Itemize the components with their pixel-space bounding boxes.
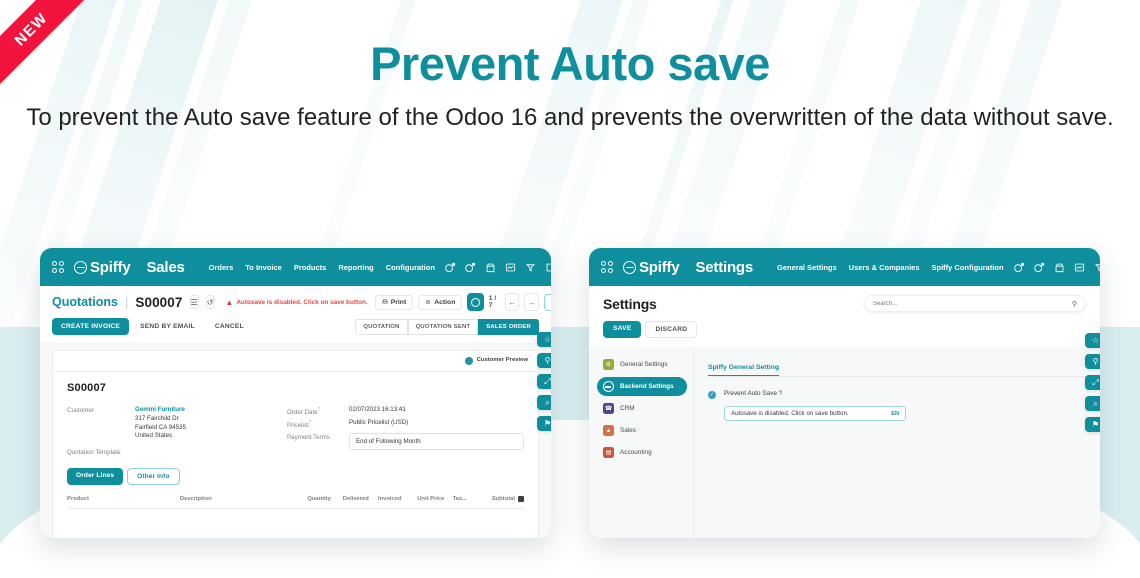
shop-icon[interactable] [1054,262,1065,273]
poster-canvas: NEW Prevent Auto save To prevent the Aut… [0,0,1140,578]
column-tax: Tax... [453,496,492,502]
sidebar-label-sales: Sales [620,427,636,434]
star-icon[interactable]: ☆ [537,332,551,347]
sidebar-item-general-settings[interactable]: ⚙ General Settings [597,355,687,374]
section-divider [708,376,1086,377]
language-badge[interactable]: EN [891,411,899,417]
save-manual-icon[interactable]: ☰ [190,295,199,309]
customer-address-line-3: United States [135,432,172,439]
breadcrumb-separator: | [125,295,128,310]
spiffy-mark-icon [623,261,636,274]
search-icon[interactable]: ⚲ [537,353,551,368]
app-name-label: Settings [695,259,753,276]
menu-item-spiffy-configuration[interactable]: Spiffy Configuration [932,263,1004,272]
prevent-auto-save-setting: ✓ Prevent Auto Save ? [708,390,1086,399]
customer-label: Customer [67,406,135,441]
payment-terms-label: Payment Terms [287,433,349,450]
customer-value: Gemini Furniture 317 Fairchild Dr Fairfi… [135,406,186,441]
breadcrumb-root[interactable]: Quotations [52,295,118,309]
expand-icon[interactable]: ⤢ [537,374,551,389]
expand-icon[interactable]: ⤢ [1085,375,1100,390]
settings-screenshot: Spiffy Settings General Settings Users &… [589,248,1100,538]
menu-item-to-invoice[interactable]: To Invoice [245,263,282,272]
status-quotation[interactable]: QUOTATION [355,319,407,335]
search-icon[interactable]: ⚲ [1085,354,1100,369]
pager-next-button[interactable]: → [524,293,539,311]
crm-icon: ☎ [603,403,614,414]
autosave-warning-text: Autosave is disabled. Click on save butt… [236,299,367,306]
autosave-warning: ▲ Autosave is disabled. Click on save bu… [225,298,367,307]
settings-page-title: Settings [603,296,657,312]
megaphone-icon[interactable] [1094,262,1100,273]
cancel-button[interactable]: CANCEL [206,318,253,335]
left-navbar: Spiffy Sales Orders To Invoice Products … [40,248,551,286]
menu-item-orders[interactable]: Orders [209,263,234,272]
order-lines-header: Product Description Quantity Delivered I… [67,496,524,509]
customer-address-line-1: 317 Fairchild Dr [135,415,179,422]
menu-item-reporting[interactable]: Reporting [338,263,373,272]
accounting-icon: ▤ [603,447,614,458]
save-button[interactable]: SAVE [603,321,641,338]
settings-body: ⚙ General Settings Backend Settings ☎ CR… [589,347,1100,538]
customer-link[interactable]: Gemini Furniture [135,406,185,413]
payment-terms-field: Payment Terms End of Following Month [287,433,524,450]
form-column-left: Customer Gemini Furniture 317 Fairchild … [67,406,287,456]
star-icon[interactable]: ☆ [1085,333,1100,348]
sales-icon: ▲ [603,425,614,436]
column-invoiced: Invoiced [378,496,417,502]
left-navbar-icons [445,259,551,276]
column-delivered: Delivered [343,496,378,502]
printer-icon [382,299,388,305]
column-options-icon[interactable] [518,496,524,502]
status-sales-order[interactable]: SALES ORDER [478,319,539,335]
sidebar-item-crm[interactable]: ☎ CRM [597,399,687,418]
customer-address-line-2: Fairfield CA 94535 [135,424,186,431]
spiffy-backend-icon [603,381,614,392]
breadcrumb-record: S00007 [135,295,182,310]
order-date-label: Order Date? [287,406,349,416]
sheet-body: S00007 Customer Gemini Furniture 317 Fai… [53,372,538,509]
zoom-icon[interactable]: ⌕ [537,395,551,410]
customer-preview-button[interactable]: Customer Preview [465,357,528,365]
presentation-icon[interactable] [505,262,516,273]
column-subtotal: Subtotal [492,496,515,502]
status-quotation-sent[interactable]: QUOTATION SENT [408,319,479,335]
sidebar-label-general-settings: General Settings [620,361,668,368]
brand-logo[interactable]: Spiffy [74,259,130,276]
form-fields: Customer Gemini Furniture 317 Fairchild … [67,406,524,456]
presentation-icon[interactable] [1074,262,1085,273]
payment-terms-input[interactable]: End of Following Month [349,433,524,450]
record-title: S00007 [67,382,524,394]
globe-icon [465,357,473,365]
record-buttons-row: CREATE INVOICE SEND BY EMAIL CANCEL QUOT… [52,318,539,342]
discard-button[interactable]: DISCARD [645,321,697,338]
settings-header-row: Settings ⚲ [603,295,1086,312]
pager-label: 1 / 7 [489,295,500,309]
print-label: Print [391,299,406,306]
settings-actions: SAVE DISCARD [603,321,1086,347]
activity-clock-icon[interactable] [445,262,456,273]
create-button[interactable]: Create [544,294,551,311]
column-description: Description [180,496,308,502]
app-name-label: Sales [146,259,184,276]
required-marker-icon: ? [309,420,312,426]
apps-grid-icon[interactable] [601,261,613,273]
left-menu-bar: Orders To Invoice Products Reporting Con… [209,263,435,272]
sidebar-item-backend-settings[interactable]: Backend Settings [597,377,687,396]
spiffy-mark-icon [74,261,87,274]
action-label: Action [434,299,455,306]
settings-main-panel: Spiffy General Setting ✓ Prevent Auto Sa… [694,347,1100,538]
required-marker-icon: ? [318,407,321,413]
control-panel-actions: Print Action 1 / 7 ← → Create [375,293,551,311]
messages-icon[interactable] [465,262,476,273]
messages-icon[interactable] [1034,262,1045,273]
status-bar: QUOTATION QUOTATION SENT SALES ORDER [355,319,539,335]
search-input[interactable] [873,301,1072,307]
right-navbar-icons [1014,259,1100,276]
checkbox-checked-icon[interactable]: ✓ [708,391,716,399]
megaphone-icon[interactable] [525,262,536,273]
circle-toggle-icon[interactable] [467,293,483,311]
send-by-email-button[interactable]: SEND BY EMAIL [131,318,204,335]
breadcrumb-row: Quotations | S00007 ☰ ↺ ▲ Autosave is di… [52,293,539,311]
activity-clock-icon[interactable] [1014,262,1025,273]
warning-triangle-icon: ▲ [225,298,233,307]
settings-section-tab-row: Spiffy General Setting [708,356,1086,376]
menu-item-users-companies[interactable]: Users & Companies [849,263,920,272]
prevent-auto-save-label: Prevent Auto Save ? [724,390,782,397]
hero-section: Prevent Auto save To prevent the Auto sa… [0,38,1140,132]
quotation-form-sheet: Customer Preview S00007 Customer Gemini … [52,350,539,538]
tab-spiffy-general-setting[interactable]: Spiffy General Setting [708,364,779,376]
pricelist-field: Pricelist? Public Pricelist (USD) [287,419,524,429]
page-title: Prevent Auto save [0,38,1140,90]
pricelist-label: Pricelist? [287,419,349,429]
brand-logo[interactable]: Spiffy [623,259,679,276]
right-side-toolbar: ☆ ⚲ ⤢ ⌕ ⚑ [1085,333,1100,432]
pricelist-value: Public Pricelist (USD) [349,419,408,429]
column-product: Product [67,496,180,502]
gear-icon [425,299,431,305]
sidebar-item-accounting[interactable]: ▤ Accounting [597,443,687,462]
sidebar-item-sales[interactable]: ▲ Sales [597,421,687,440]
sidebar-label-backend-settings: Backend Settings [620,383,674,390]
settings-header: Settings ⚲ SAVE DISCARD [589,286,1100,347]
menu-item-configuration[interactable]: Configuration [386,263,435,272]
print-button[interactable]: Print [375,295,413,310]
right-navbar: Spiffy Settings General Settings Users &… [589,248,1100,286]
bookmark-icon[interactable]: ⚑ [1085,417,1100,432]
note-icon[interactable] [545,262,551,273]
brand-label: Spiffy [639,259,679,276]
order-date-value: 02/07/2023 16:13:41 [349,406,406,416]
sheet-topbar: Customer Preview [53,351,538,372]
column-unit-price: Unit Price [417,496,452,502]
order-date-field: Order Date? 02/07/2023 16:13:41 [287,406,524,416]
zoom-icon[interactable]: ⌕ [1085,396,1100,411]
tab-other-info[interactable]: Other Info [127,468,180,485]
create-invoice-button[interactable]: CREATE INVOICE [52,318,129,335]
left-side-toolbar: ☆ ⚲ ⤢ ⌕ ⚑ [537,332,551,431]
menu-item-general-settings[interactable]: General Settings [777,263,837,272]
page-subtitle: To prevent the Auto save feature of the … [0,104,1140,132]
column-quantity: Quantity [307,496,342,502]
left-control-panel: Quotations | S00007 ☰ ↺ ▲ Autosave is di… [40,286,551,342]
sidebar-label-accounting: Accounting [620,449,652,456]
right-menu-bar: General Settings Users & Companies Spiff… [777,263,1004,272]
settings-search-box[interactable]: ⚲ [864,295,1086,312]
column-subtotal-group: Subtotal [492,496,524,502]
shop-icon[interactable] [485,262,496,273]
brand-label: Spiffy [90,259,130,276]
pager-prev-button[interactable]: ← [505,293,520,311]
settings-sidebar: ⚙ General Settings Backend Settings ☎ CR… [589,347,694,538]
discard-undo-icon[interactable]: ↺ [206,295,215,309]
tab-order-lines[interactable]: Order Lines [67,468,123,485]
customer-preview-label: Customer Preview [477,357,528,364]
form-column-right: Order Date? 02/07/2023 16:13:41 Pricelis… [287,406,524,456]
sidebar-label-crm: CRM [620,405,635,412]
form-notebook-tabs: Order Lines Other Info [67,468,524,485]
search-icon[interactable]: ⚲ [1072,300,1077,308]
customer-field: Customer Gemini Furniture 317 Fairchild … [67,406,287,441]
sales-quotation-screenshot: Spiffy Sales Orders To Invoice Products … [40,248,551,538]
left-sheet-wrap: Customer Preview S00007 Customer Gemini … [40,342,551,538]
quotation-template-label: Quotation Template [67,449,287,456]
apps-grid-icon[interactable] [52,261,64,273]
action-button[interactable]: Action [418,295,462,310]
general-settings-icon: ⚙ [603,359,614,370]
autosave-message-input[interactable]: Autosave is disabled. Click on save butt… [724,406,906,421]
bookmark-icon[interactable]: ⚑ [537,416,551,431]
menu-item-products[interactable]: Products [294,263,327,272]
autosave-message-value: Autosave is disabled. Click on save butt… [731,410,891,417]
